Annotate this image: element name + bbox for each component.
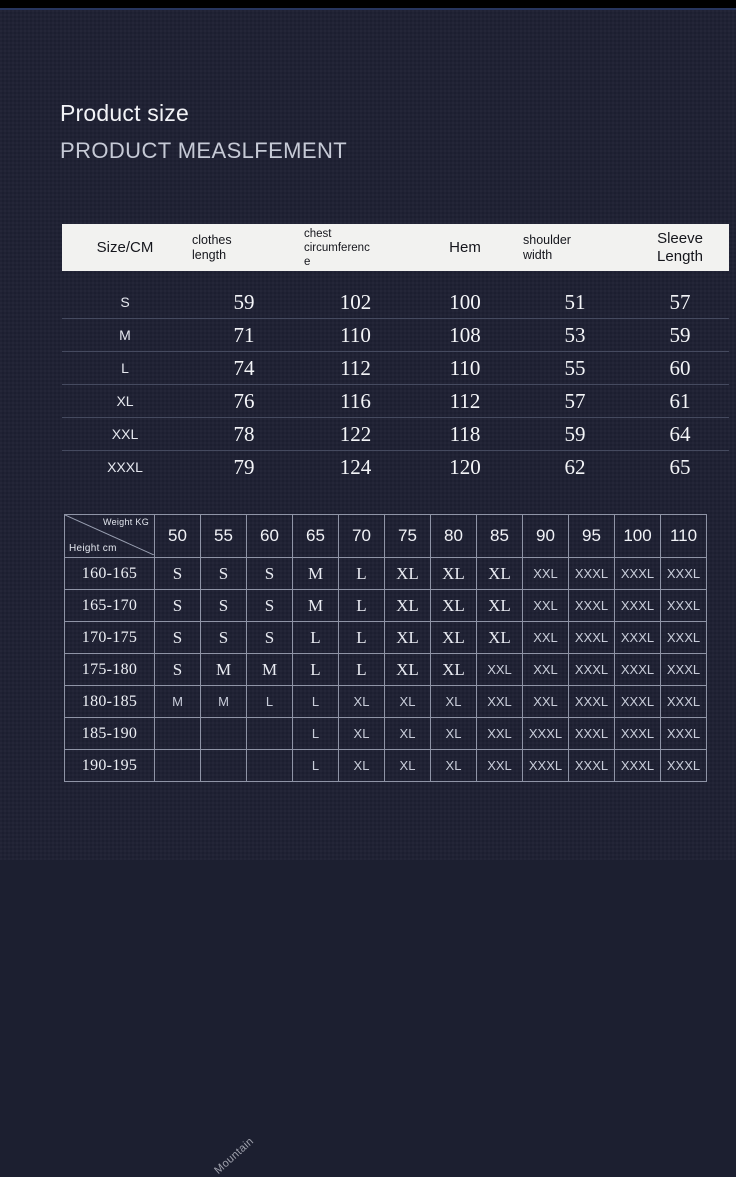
measurement-size-label: L: [62, 352, 188, 385]
size-grid-row: 190-195LXLXLXLXXLXXXLXXXLXXXLXXXL: [65, 750, 707, 782]
column-header-clothes-length-line1: clothes: [192, 233, 296, 248]
column-header-sleeve-line2: Length: [635, 248, 725, 266]
size-grid-cell: L: [339, 590, 385, 622]
size-grid-cell: XXXL: [569, 718, 615, 750]
size-grid-cell: XL: [339, 686, 385, 718]
size-grid-corner-cell: Weight KG Height cm: [65, 515, 155, 558]
size-grid-cell: XL: [431, 558, 477, 590]
size-grid-cell: XXL: [523, 622, 569, 654]
size-grid-cell: XXXL: [523, 718, 569, 750]
column-header-chest-circumference: chest circumferenc e: [300, 224, 411, 271]
size-grid-cell: XXL: [477, 750, 523, 782]
size-grid-cell: M: [293, 558, 339, 590]
size-grid-cell: [155, 750, 201, 782]
table-row: XL761161125761: [62, 385, 729, 418]
measurement-value: 118: [411, 418, 519, 451]
size-grid-cell: XL: [385, 718, 431, 750]
size-grid-cell: XXXL: [661, 654, 707, 686]
measurement-size-label: XL: [62, 385, 188, 418]
size-grid-cell: S: [155, 590, 201, 622]
size-grid-height-label: 185-190: [65, 718, 155, 750]
size-grid-row: 180-185MMLLXLXLXLXXLXXLXXXLXXXLXXXL: [65, 686, 707, 718]
measurement-value: 112: [300, 352, 411, 385]
size-grid-weight-header: 80: [431, 515, 477, 558]
size-grid-cell: S: [155, 622, 201, 654]
size-grid-cell: M: [201, 686, 247, 718]
table-row: S591021005157: [62, 286, 729, 319]
size-grid-cell: XL: [339, 750, 385, 782]
size-grid-cell: XL: [431, 590, 477, 622]
measurement-size-label: XXL: [62, 418, 188, 451]
measurement-value: 51: [519, 286, 631, 319]
measurement-value: 124: [300, 451, 411, 484]
measurement-value: 57: [519, 385, 631, 418]
column-header-shoulder-line1: shoulder: [523, 233, 627, 248]
column-header-hem-label: Hem: [415, 239, 515, 257]
size-grid-cell: XXL: [523, 654, 569, 686]
column-header-size-label: Size/CM: [66, 239, 184, 257]
table-row: L741121105560: [62, 352, 729, 385]
size-grid-cell: XXXL: [569, 686, 615, 718]
size-grid-cell: XL: [339, 718, 385, 750]
size-grid-cell: XXXL: [569, 654, 615, 686]
size-grid-row: 170-175SSSLLXLXLXLXXLXXXLXXXLXXXL: [65, 622, 707, 654]
size-grid-cell: S: [201, 622, 247, 654]
size-grid-cell: XL: [431, 686, 477, 718]
size-grid-cell: L: [293, 654, 339, 686]
size-grid-cell: XXXL: [661, 686, 707, 718]
size-grid-cell: XXXL: [615, 590, 661, 622]
size-grid-cell: XXXL: [615, 558, 661, 590]
size-grid-weight-header: 55: [201, 515, 247, 558]
size-grid-cell: XL: [431, 750, 477, 782]
size-grid-cell: XL: [385, 622, 431, 654]
size-grid-cell: XXXL: [661, 750, 707, 782]
size-grid-cell: [247, 718, 293, 750]
corner-weight-label: Weight KG: [103, 517, 149, 527]
size-grid-weight-header: 70: [339, 515, 385, 558]
size-grid-cell: XL: [477, 558, 523, 590]
size-grid-cell: S: [201, 558, 247, 590]
measurement-value: 78: [188, 418, 300, 451]
size-grid-cell: L: [339, 654, 385, 686]
size-grid-cell: XXXL: [661, 718, 707, 750]
size-grid-cell: L: [293, 750, 339, 782]
measurement-value: 57: [631, 286, 729, 319]
measurement-table-spacer: [62, 271, 729, 286]
column-header-size: Size/CM: [62, 224, 188, 271]
size-grid-cell: XXL: [477, 718, 523, 750]
size-grid-cell: XL: [385, 654, 431, 686]
size-grid-weight-header: 85: [477, 515, 523, 558]
size-grid-height-label: 165-170: [65, 590, 155, 622]
size-grid-table: Weight KG Height cm 50556065707580859095…: [64, 514, 707, 782]
size-grid-weight-header: 60: [247, 515, 293, 558]
size-grid-cell: XL: [477, 622, 523, 654]
measurement-value: 102: [300, 286, 411, 319]
size-grid-height-label: 180-185: [65, 686, 155, 718]
measurement-value: 62: [519, 451, 631, 484]
size-grid-cell: XXXL: [569, 750, 615, 782]
size-grid-cell: L: [339, 558, 385, 590]
size-grid-cell: XL: [431, 622, 477, 654]
size-grid-cell: XL: [385, 558, 431, 590]
measurement-value: 120: [411, 451, 519, 484]
size-grid-weight-header: 90: [523, 515, 569, 558]
size-grid-cell: S: [155, 558, 201, 590]
size-grid-cell: XL: [385, 750, 431, 782]
measurement-value: 122: [300, 418, 411, 451]
measurement-value: 71: [188, 319, 300, 352]
size-grid-cell: XXL: [477, 654, 523, 686]
size-grid-weight-header: 95: [569, 515, 615, 558]
size-grid-weight-header: 65: [293, 515, 339, 558]
page-title: Product size: [60, 98, 347, 128]
headings-block: Product size PRODUCT MEASLFEMENT: [60, 98, 347, 167]
size-grid-row: 165-170SSSMLXLXLXLXXLXXXLXXXLXXXL: [65, 590, 707, 622]
page-background: Product size PRODUCT MEASLFEMENT Size/CM…: [0, 0, 736, 860]
size-grid-cell: [201, 718, 247, 750]
size-grid-cell: XXXL: [661, 622, 707, 654]
measurement-value: 110: [411, 352, 519, 385]
size-grid-cell: L: [339, 622, 385, 654]
table-row: M711101085359: [62, 319, 729, 352]
size-grid-cell: XXXL: [523, 750, 569, 782]
measurement-value: 110: [300, 319, 411, 352]
measurement-value: 76: [188, 385, 300, 418]
size-grid-cell: XXXL: [615, 750, 661, 782]
measurement-value: 108: [411, 319, 519, 352]
column-header-chest-line2: circumferenc: [304, 241, 407, 255]
size-grid-cell: L: [293, 718, 339, 750]
size-grid-row: 160-165SSSMLXLXLXLXXLXXXLXXXLXXXL: [65, 558, 707, 590]
size-grid-cell: [155, 718, 201, 750]
column-header-chest-line3: e: [304, 255, 407, 269]
size-grid-body: 160-165SSSMLXLXLXLXXLXXXLXXXLXXXL165-170…: [65, 558, 707, 782]
size-grid-cell: M: [293, 590, 339, 622]
column-header-chest-line1: chest: [304, 227, 407, 241]
column-header-hem: Hem: [411, 224, 519, 271]
measurement-size-label: S: [62, 286, 188, 319]
measurement-value: 116: [300, 385, 411, 418]
size-grid-row: 175-180SMMLLXLXLXXLXXLXXXLXXXLXXXL: [65, 654, 707, 686]
size-grid-cell: S: [247, 622, 293, 654]
size-grid-cell: XL: [477, 590, 523, 622]
size-grid-cell: XXXL: [615, 654, 661, 686]
size-grid-weight-header: 75: [385, 515, 431, 558]
size-grid-cell: S: [201, 590, 247, 622]
size-grid-cell: XL: [431, 654, 477, 686]
watermark-text: Mountain: [212, 1135, 256, 1176]
size-grid-height-label: 160-165: [65, 558, 155, 590]
size-grid-cell: XL: [431, 718, 477, 750]
size-grid-cell: S: [247, 558, 293, 590]
size-grid-cell: S: [247, 590, 293, 622]
corner-height-label: Height cm: [69, 543, 117, 554]
measurement-value: 59: [519, 418, 631, 451]
top-black-bar: [0, 0, 736, 8]
measurement-value: 60: [631, 352, 729, 385]
size-grid-cell: XXXL: [615, 622, 661, 654]
measurement-size-label: M: [62, 319, 188, 352]
column-header-shoulder-width: shoulder width: [519, 224, 631, 271]
size-grid-cell: M: [155, 686, 201, 718]
size-grid-weight-header: 50: [155, 515, 201, 558]
measurement-value: 64: [631, 418, 729, 451]
size-grid-cell: XXXL: [569, 622, 615, 654]
size-grid-cell: L: [293, 622, 339, 654]
measurement-value: 55: [519, 352, 631, 385]
measurement-value: 79: [188, 451, 300, 484]
size-grid-cell: XXXL: [661, 558, 707, 590]
size-grid-cell: XXXL: [615, 686, 661, 718]
measurement-value: 59: [631, 319, 729, 352]
measurement-table-header: Size/CM clothes length chest circumferen…: [62, 224, 729, 271]
size-grid-cell: [247, 750, 293, 782]
size-grid-cell: XL: [385, 590, 431, 622]
measurement-value: 74: [188, 352, 300, 385]
size-grid-cell: S: [155, 654, 201, 686]
column-header-sleeve-length: Sleeve Length: [631, 224, 729, 271]
column-header-clothes-length-line2: length: [192, 248, 296, 263]
size-grid-header-row: Weight KG Height cm 50556065707580859095…: [65, 515, 707, 558]
size-grid-cell: XXL: [523, 590, 569, 622]
spacer-cell: [62, 271, 729, 286]
measurement-table: Size/CM clothes length chest circumferen…: [62, 224, 729, 483]
size-grid-height-label: 190-195: [65, 750, 155, 782]
measurement-value: 100: [411, 286, 519, 319]
size-grid-cell: L: [293, 686, 339, 718]
measurement-header-row: Size/CM clothes length chest circumferen…: [62, 224, 729, 271]
measurement-value: 53: [519, 319, 631, 352]
size-grid-cell: XL: [385, 686, 431, 718]
size-grid-cell: XXXL: [661, 590, 707, 622]
measurement-value: 59: [188, 286, 300, 319]
size-grid-cell: XXL: [523, 558, 569, 590]
table-row: XXL781221185964: [62, 418, 729, 451]
measurement-value: 112: [411, 385, 519, 418]
size-grid-height-label: 170-175: [65, 622, 155, 654]
table-row: XXXL791241206265: [62, 451, 729, 484]
column-header-clothes-length: clothes length: [188, 224, 300, 271]
size-grid-wrapper: Weight KG Height cm 50556065707580859095…: [64, 514, 669, 782]
size-grid-weight-header: 110: [661, 515, 707, 558]
measurement-value: 61: [631, 385, 729, 418]
page-subtitle: PRODUCT MEASLFEMENT: [60, 135, 347, 167]
column-header-shoulder-line2: width: [523, 248, 627, 263]
measurement-table-body: S591021005157M711101085359L741121105560X…: [62, 271, 729, 483]
size-grid-cell: XXXL: [615, 718, 661, 750]
size-grid-cell: L: [247, 686, 293, 718]
measurement-size-label: XXXL: [62, 451, 188, 484]
size-grid-cell: XXXL: [569, 590, 615, 622]
size-grid-row: 185-190LXLXLXLXXLXXXLXXXLXXXLXXXL: [65, 718, 707, 750]
size-grid-height-label: 175-180: [65, 654, 155, 686]
top-blue-divider: [0, 8, 736, 10]
size-grid-header: Weight KG Height cm 50556065707580859095…: [65, 515, 707, 558]
column-header-sleeve-line1: Sleeve: [635, 230, 725, 248]
size-grid-cell: XXL: [477, 686, 523, 718]
size-grid-cell: M: [201, 654, 247, 686]
size-grid-cell: XXXL: [569, 558, 615, 590]
size-grid-weight-header: 100: [615, 515, 661, 558]
size-grid-cell: [201, 750, 247, 782]
measurement-value: 65: [631, 451, 729, 484]
size-grid-cell: XXL: [523, 686, 569, 718]
size-grid-cell: M: [247, 654, 293, 686]
